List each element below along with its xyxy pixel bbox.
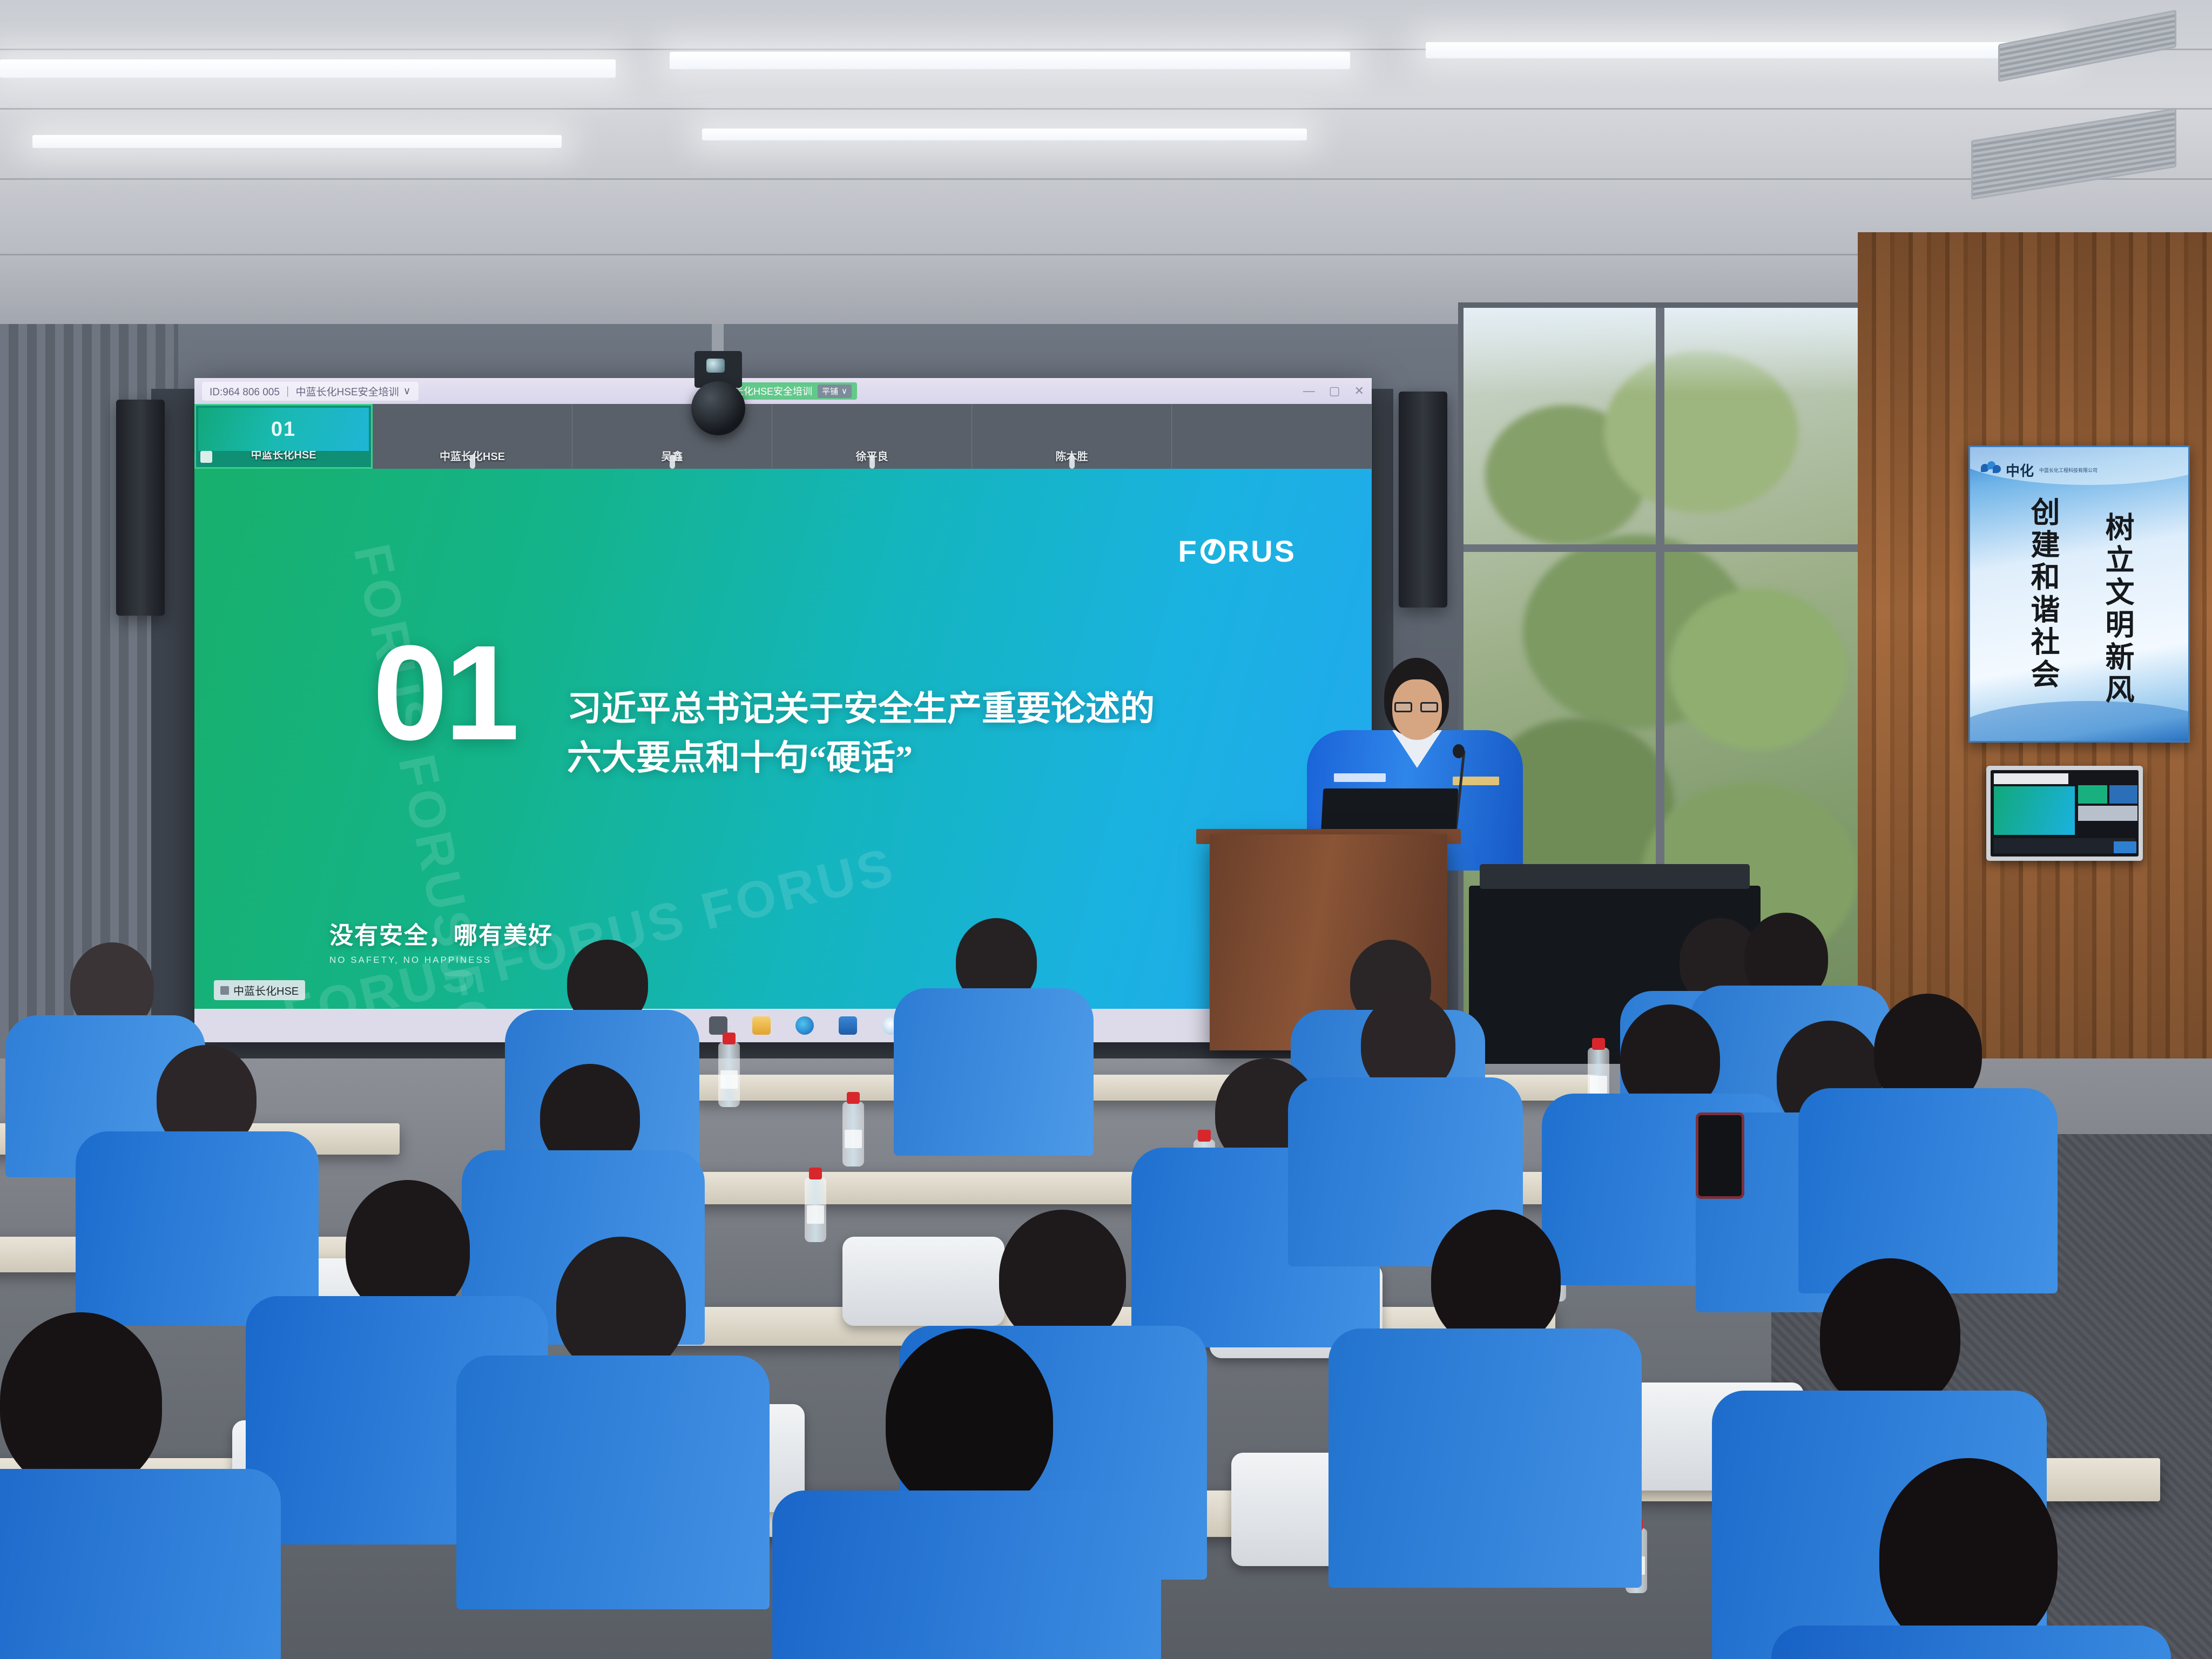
slide-title-line2: 六大要点和十句“硬话” — [567, 734, 1226, 783]
slide-title-line1: 习近平总书记关于安全生产重要论述的 — [567, 685, 1226, 734]
presentation-slide: FORUS FORUS FORUS FORUS FORUS FORUS 01 习… — [194, 469, 1372, 1009]
microphone-icon — [470, 455, 475, 469]
participant-tile[interactable]: 陈木胜 — [972, 404, 1172, 469]
participant-tile[interactable]: 徐平良 — [772, 404, 972, 469]
app-titlebar: ID:964 806 005 ｜ 中蓝长化HSE安全培训 ∨ 中蓝长化HSE安全… — [194, 378, 1372, 404]
wall-speaker-right — [1399, 392, 1447, 608]
ceiling-vent — [1998, 10, 2176, 82]
participant-tile-active[interactable]: 01 中蓝长化HSE — [194, 404, 373, 469]
poster-column-right: 树立文明新风 — [2096, 512, 2139, 723]
water-bottle — [718, 1042, 740, 1107]
podium-microphone — [1453, 744, 1465, 758]
meeting-tab[interactable]: ID:964 806 005 ｜ 中蓝长化HSE安全培训 ∨ — [202, 382, 419, 401]
poster-logo-text: 中化 — [2006, 460, 2034, 480]
control-room-monitor[interactable] — [1986, 766, 2143, 861]
chair — [842, 1237, 1004, 1326]
meeting-tab-label: ID:964 806 005 ｜ 中蓝长化HSE安全培训 — [210, 384, 399, 399]
forus-logo-prefix: F — [1178, 534, 1198, 569]
camera-mount-arm — [712, 324, 724, 354]
conference-room-scene: 中化 中蓝长化工程科技有限公司 树立文明新风 创建和谐社会 ID:964 806… — [0, 0, 2212, 1659]
thumbnail-slide-number: 01 — [271, 418, 296, 441]
chevron-down-icon[interactable]: ∨ — [403, 385, 411, 397]
control-monitor-screen — [1991, 770, 2139, 857]
window-mullion — [1464, 544, 1863, 552]
glasses-icon — [1394, 702, 1440, 713]
windows-taskbar — [194, 1009, 1372, 1042]
ceiling-light — [670, 52, 1350, 69]
shared-screen-thumbnail: 01 — [198, 408, 369, 451]
microphone-icon — [869, 455, 875, 469]
chevron-down-icon: ∨ — [841, 386, 847, 396]
window-controls: — ▢ ✕ — [1303, 384, 1364, 398]
ceiling-ptz-camera — [691, 381, 745, 435]
forus-logo-suffix: RUS — [1228, 534, 1296, 569]
phone-icon — [1696, 1112, 1744, 1199]
ceiling-light — [1426, 42, 2063, 58]
microphone-icon — [670, 455, 675, 469]
presenter-avatar-icon — [220, 986, 229, 995]
poster-column-left: 创建和谐社会 — [2021, 497, 2064, 713]
slide-title: 习近平总书记关于安全生产重要论述的 六大要点和十句“硬话” — [567, 685, 1226, 783]
slide-number: 01 — [373, 625, 516, 760]
slogan-chinese: 没有安全，哪有美好 — [329, 916, 553, 950]
mic-badge-icon — [200, 451, 212, 463]
poster-company-line: 中蓝长化工程科技有限公司 — [2039, 467, 2098, 474]
maximize-button[interactable]: ▢ — [1329, 384, 1340, 398]
participant-tile-empty[interactable] — [1172, 404, 1372, 469]
microphone-icon — [1069, 455, 1075, 469]
folder-icon[interactable] — [752, 1016, 771, 1035]
view-mode-chip[interactable]: 平铺 ∨ — [818, 385, 852, 398]
slogan-english: NO SAFETY, NO HAPPINESS — [329, 955, 553, 966]
sinochem-logo-mark — [1981, 461, 2002, 480]
close-button[interactable]: ✕ — [1354, 384, 1364, 398]
av-cabinet-top — [1480, 864, 1750, 889]
projection-screen: ID:964 806 005 ｜ 中蓝长化HSE安全培训 ∨ 中蓝长化HSE安全… — [194, 378, 1372, 1042]
minimize-button[interactable]: — — [1303, 384, 1315, 398]
edge-browser-icon[interactable] — [795, 1016, 814, 1035]
wall-speaker-left — [116, 400, 165, 616]
participant-tile[interactable]: 中蓝长化HSE — [373, 404, 572, 469]
view-mode-label: 平铺 — [822, 386, 838, 397]
ceiling-light — [0, 59, 616, 78]
slide-slogan: 没有安全，哪有美好 NO SAFETY, NO HAPPINESS — [329, 916, 553, 966]
ceiling-vent — [1971, 108, 2176, 200]
wall-poster: 中化 中蓝长化工程科技有限公司 树立文明新风 创建和谐社会 — [1968, 446, 2190, 743]
water-bottle — [842, 1102, 864, 1166]
presenter-name-patch — [1334, 773, 1386, 782]
ceiling-light — [32, 135, 562, 148]
participant-filmstrip: 01 中蓝长化HSE 中蓝长化HSE 吴鑫 徐平良 — [194, 404, 1372, 469]
file-explorer-icon[interactable] — [709, 1016, 727, 1035]
water-bottle — [805, 1177, 826, 1242]
presenter-name-text: 中蓝长化HSE — [233, 982, 299, 998]
sinochem-logo: 中化 中蓝长化工程科技有限公司 — [1981, 460, 2098, 480]
ceiling-light — [702, 129, 1307, 140]
forus-logo-o-icon — [1201, 539, 1225, 564]
store-icon[interactable] — [839, 1016, 857, 1035]
forus-logo: F RUS — [1178, 534, 1296, 569]
meeting-app-window: ID:964 806 005 ｜ 中蓝长化HSE安全培训 ∨ 中蓝长化HSE安全… — [194, 378, 1372, 1042]
presenter-name-label: 中蓝长化HSE — [214, 980, 305, 1000]
